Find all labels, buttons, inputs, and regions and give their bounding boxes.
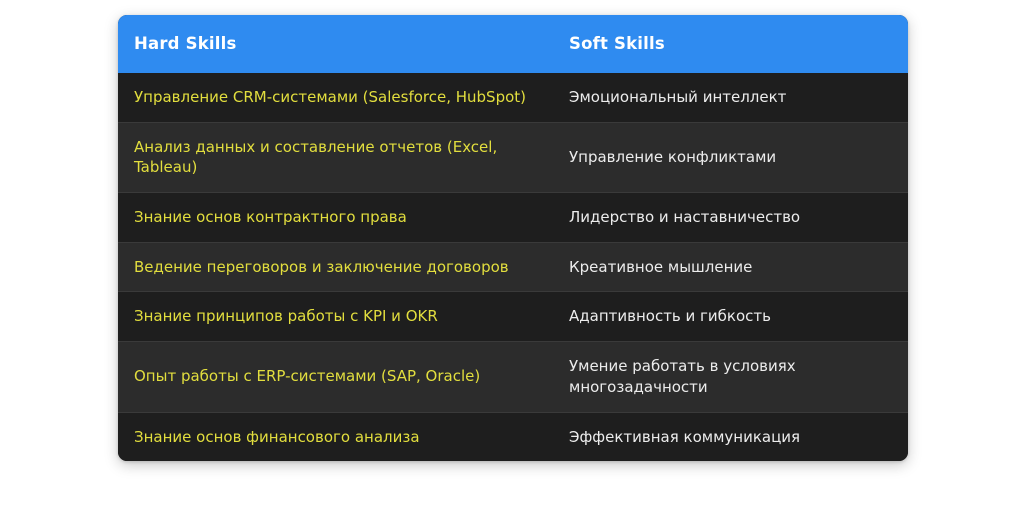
cell-hard-skill: Управление CRM-системами (Salesforce, Hu… [118,73,553,122]
column-header-soft-skills: Soft Skills [553,15,908,73]
skills-table: Hard Skills Soft Skills Управление CRM-с… [118,15,908,461]
table-header-row: Hard Skills Soft Skills [118,15,908,73]
cell-soft-skill: Эффективная коммуникация [553,412,908,461]
cell-hard-skill: Опыт работы с ERP-системами (SAP, Oracle… [118,342,553,412]
cell-hard-skill: Знание основ финансового анализа [118,412,553,461]
cell-hard-skill: Знание основ контрактного права [118,193,553,243]
cell-soft-skill: Адаптивность и гибкость [553,292,908,342]
cell-soft-skill: Креативное мышление [553,242,908,292]
table-row: Опыт работы с ERP-системами (SAP, Oracle… [118,342,908,412]
cell-soft-skill: Управление конфликтами [553,122,908,192]
table-header: Hard Skills Soft Skills [118,15,908,73]
column-header-hard-skills: Hard Skills [118,15,553,73]
cell-hard-skill: Ведение переговоров и заключение договор… [118,242,553,292]
table-row: Ведение переговоров и заключение договор… [118,242,908,292]
table-row: Управление CRM-системами (Salesforce, Hu… [118,73,908,122]
cell-hard-skill: Знание принципов работы с KPI и OKR [118,292,553,342]
skills-table-card: Hard Skills Soft Skills Управление CRM-с… [118,15,908,461]
table-body: Управление CRM-системами (Salesforce, Hu… [118,73,908,461]
page-canvas: Hard Skills Soft Skills Управление CRM-с… [0,0,1024,519]
cell-soft-skill: Лидерство и наставничество [553,193,908,243]
table-row: Знание основ контрактного праваЛидерство… [118,193,908,243]
cell-soft-skill: Эмоциональный интеллект [553,73,908,122]
table-row: Знание основ финансового анализаЭффектив… [118,412,908,461]
cell-soft-skill: Умение работать в условиях многозадачнос… [553,342,908,412]
table-row: Анализ данных и составление отчетов (Exc… [118,122,908,192]
cell-hard-skill: Анализ данных и составление отчетов (Exc… [118,122,553,192]
table-row: Знание принципов работы с KPI и OKRАдапт… [118,292,908,342]
